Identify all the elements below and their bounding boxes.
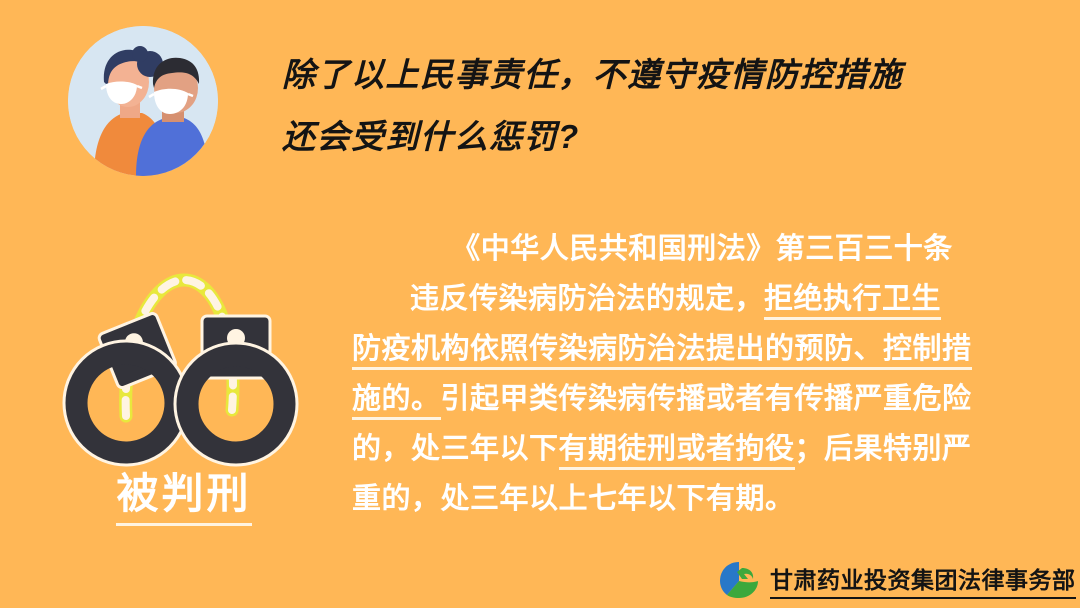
legal-line-2: 防疫机构依照传染病防治法提出的预防、控制措 — [352, 324, 1052, 374]
legal-line-3-underlined: 施的。 — [352, 383, 441, 420]
title-line-1: 除了以上民事责任，不遵守疫情防控措施 — [282, 44, 982, 106]
handcuffs-icon — [52, 238, 316, 478]
title-line-2: 还会受到什么惩罚? — [282, 106, 982, 168]
legal-line-5-plain: 重的，处三年以上七年以下有期。 — [352, 483, 795, 515]
handcuff-caption-text: 被判刑 — [116, 470, 251, 526]
legal-line-4-underlined: 有期徒刑或者拘役 — [559, 433, 795, 470]
legal-line-4-plain-b: ；后果特别严 — [795, 433, 972, 465]
legal-line-3: 施的。引起甲类传染病传播或者有传播严重危险 — [352, 374, 1052, 424]
slide-canvas: 除了以上民事责任，不遵守疫情防控措施 还会受到什么惩罚? — [0, 0, 1080, 608]
footer-brand: 甘肃药业投资集团法律事务部 — [718, 560, 1076, 600]
legal-line-4: 的，处三年以下有期徒刑或者拘役；后果特别严 — [352, 424, 1052, 474]
page-title: 除了以上民事责任，不遵守疫情防控措施 还会受到什么惩罚? — [282, 44, 982, 168]
masked-couple-icon — [68, 26, 218, 176]
legal-line-1: 违反传染病防治法的规定，拒绝执行卫生 — [352, 274, 1052, 324]
legal-line-2-underlined: 防疫机构依照传染病防治法提出的预防、控制措 — [352, 333, 972, 370]
gansu-pharma-logo — [718, 560, 760, 600]
legal-line-4-plain-a: 的，处三年以下 — [352, 433, 559, 465]
legal-line-1-plain: 违反传染病防治法的规定， — [410, 283, 764, 315]
legal-text-block: 《中华人民共和国刑法》第三百三十条 违反传染病防治法的规定，拒绝执行卫生 防疫机… — [352, 224, 1052, 524]
legal-line-3-plain: 引起甲类传染病传播或者有传播严重危险 — [441, 383, 972, 415]
legal-line-1-underlined: 拒绝执行卫生 — [764, 283, 941, 320]
legal-line-5: 重的，处三年以上七年以下有期。 — [352, 474, 1052, 524]
handcuff-caption: 被判刑 — [52, 470, 316, 526]
legal-heading: 《中华人民共和国刑法》第三百三十条 — [352, 224, 1052, 274]
footer-brand-name: 甘肃药业投资集团法律事务部 — [770, 561, 1076, 599]
